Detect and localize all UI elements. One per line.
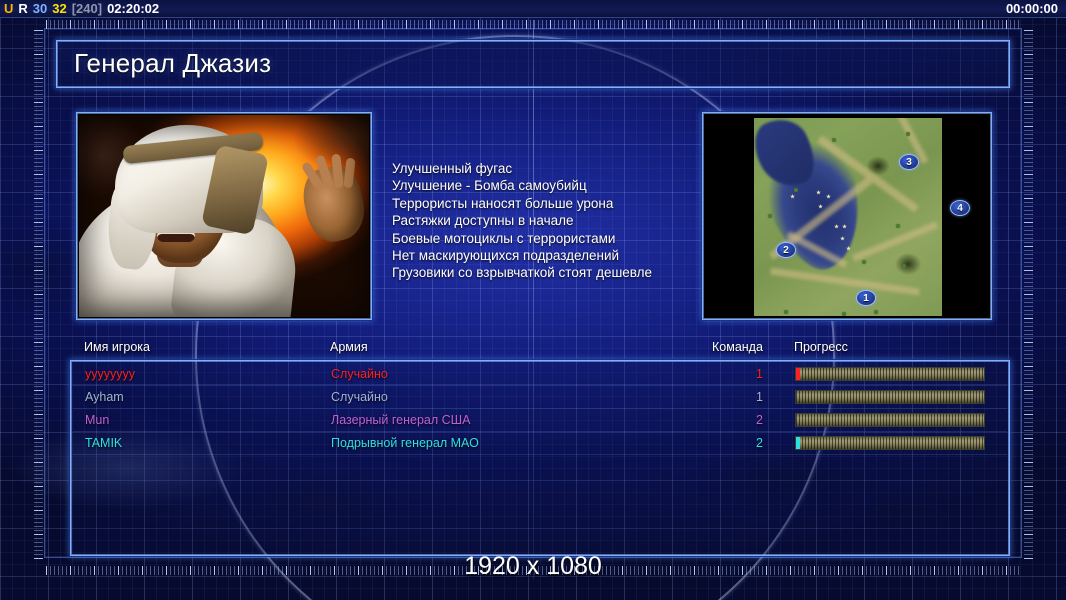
player-name: Ayham <box>85 390 124 404</box>
portrait-vignette <box>79 115 369 317</box>
player-army: Случайно <box>331 367 388 381</box>
minimap-terrain <box>754 118 942 316</box>
description-line: Улучшенный фугас <box>392 160 702 177</box>
minimap-path <box>852 221 938 261</box>
ruler-right <box>1024 30 1033 560</box>
player-team: 2 <box>749 436 763 450</box>
player-progress-tick <box>796 391 800 403</box>
minimap-start-marker-4[interactable]: 4 <box>950 200 970 216</box>
description-line: Растяжки доступны в начале <box>392 212 702 229</box>
portrait-image <box>79 115 369 317</box>
player-team: 2 <box>749 413 763 427</box>
minimap-start-marker-2[interactable]: 2 <box>776 242 796 258</box>
player-progress-fill <box>796 368 984 380</box>
player-progress-tick <box>796 437 800 449</box>
player-progress-tick <box>796 368 800 380</box>
column-header-name: Имя игрока <box>84 340 150 354</box>
minimap-tree <box>842 312 846 316</box>
description-line: Террористы наносят больше урона <box>392 195 702 212</box>
player-progress-bar <box>795 413 985 427</box>
player-progress-tick <box>796 414 800 426</box>
player-rows: yyyyyyyyСлучайно1AyhamСлучайно1MunЛазерн… <box>73 363 1007 455</box>
minimap-tree <box>906 132 910 136</box>
minimap-tree <box>784 310 788 314</box>
column-header-team: Команда <box>712 340 763 354</box>
minimap-tree <box>902 264 906 268</box>
page-title: Генерал Джазиз <box>74 48 271 79</box>
top-status-bar: UR 30 32 [240] 02:20:02 00:00:00 <box>0 0 1066 18</box>
player-progress-fill <box>796 437 984 449</box>
description-line: Улучшение - Бомба самоубийц <box>392 177 702 194</box>
general-portrait <box>76 112 372 320</box>
table-row[interactable]: TAMIKПодрывной генерал МАО2 <box>73 432 1007 455</box>
minimap-start-marker-1[interactable]: 1 <box>856 290 876 306</box>
status-bracket-value: [240] <box>72 1 102 16</box>
general-description-list: Улучшенный фугас Улучшение - Бомба самоу… <box>392 160 702 282</box>
minimap-start-marker-label: 3 <box>906 157 912 168</box>
player-name: yyyyyyyy <box>85 367 135 381</box>
minimap-start-marker-label: 4 <box>957 203 963 214</box>
minimap-start-marker-label: 2 <box>783 245 789 256</box>
player-progress-bar <box>795 390 985 404</box>
minimap-tree <box>874 310 878 314</box>
screen-root: UR 30 32 [240] 02:20:02 00:00:00 Генерал… <box>0 0 1066 600</box>
player-progress-bar <box>795 436 985 450</box>
minimap-path <box>770 268 920 296</box>
status-u-label: U <box>4 1 13 16</box>
player-army: Лазерный генерал США <box>331 413 470 427</box>
minimap-tree <box>832 138 836 142</box>
status-clock: 02:20:02 <box>107 1 159 16</box>
player-team: 1 <box>749 367 763 381</box>
description-line: Нет маскирующихся подразделений <box>392 247 702 264</box>
player-progress-fill <box>796 414 984 426</box>
minimap-canvas: 1234 <box>706 116 988 316</box>
status-fps-value: 30 <box>33 1 47 16</box>
player-list-panel: yyyyyyyyСлучайно1AyhamСлучайно1MunЛазерн… <box>70 360 1010 556</box>
status-right-clock: 00:00:00 <box>1006 1 1058 16</box>
player-name: Mun <box>85 413 109 427</box>
minimap-start-marker-label: 1 <box>863 293 869 304</box>
player-name: TAMIK <box>85 436 122 450</box>
player-army: Случайно <box>331 390 388 404</box>
status-left-group: UR 30 32 [240] 02:20:02 <box>0 1 159 16</box>
status-r-label: R <box>18 1 27 16</box>
resolution-overlay: 1920 x 1080 <box>0 552 1066 581</box>
minimap-start-marker-3[interactable]: 3 <box>899 154 919 170</box>
player-team: 1 <box>749 390 763 404</box>
minimap-tree <box>794 188 798 192</box>
player-table-headers: Имя игрока Армия Команда Прогресс <box>76 340 1006 358</box>
table-row[interactable]: yyyyyyyyСлучайно1 <box>73 363 1007 386</box>
ruler-top <box>46 20 1022 29</box>
table-row[interactable]: MunЛазерный генерал США2 <box>73 409 1007 432</box>
player-progress-bar <box>795 367 985 381</box>
ruler-left <box>34 30 43 560</box>
player-army: Подрывной генерал МАО <box>331 436 479 450</box>
description-line: Грузовики со взрывчаткой стоят дешевле <box>392 264 702 281</box>
table-row[interactable]: AyhamСлучайно1 <box>73 386 1007 409</box>
player-progress-fill <box>796 391 984 403</box>
status-fps2-value: 32 <box>52 1 66 16</box>
minimap-tree <box>768 214 772 218</box>
description-line: Боевые мотоциклы с террористами <box>392 230 702 247</box>
column-header-army: Армия <box>330 340 368 354</box>
minimap-tree <box>896 224 900 228</box>
minimap-preview[interactable]: 1234 <box>702 112 992 320</box>
minimap-tree <box>862 260 866 264</box>
column-header-progress: Прогресс <box>794 340 848 354</box>
